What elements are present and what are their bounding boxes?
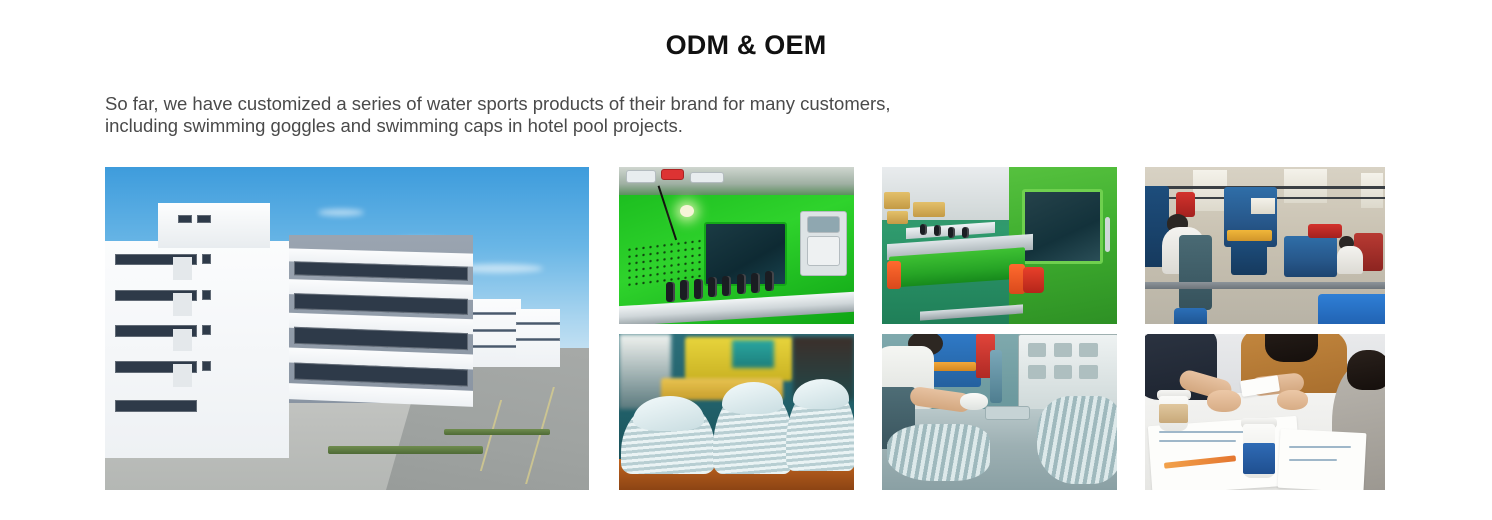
sun-shade xyxy=(173,364,192,387)
motor-housing xyxy=(1023,267,1044,292)
press-machine xyxy=(1284,236,1337,277)
panel-button xyxy=(1054,365,1073,379)
window-band xyxy=(516,338,560,341)
lamp-head-icon xyxy=(680,205,694,217)
photo-gallery xyxy=(105,167,1385,490)
photo-press-workers[interactable] xyxy=(1145,167,1385,324)
cap-top xyxy=(793,379,849,409)
hedge xyxy=(328,446,483,454)
cap-stack xyxy=(1037,396,1117,483)
photo-factory-exterior[interactable] xyxy=(105,167,589,490)
molded-part xyxy=(680,280,689,300)
photo-design-team-meeting[interactable] xyxy=(1145,334,1385,490)
person-hand xyxy=(1277,390,1308,410)
panel-button xyxy=(1028,343,1047,357)
molded-part xyxy=(737,274,746,294)
intro-line-2: including swimming goggles and swimming … xyxy=(105,115,1065,137)
window-band xyxy=(115,400,197,412)
panel-button xyxy=(1054,343,1073,357)
window xyxy=(202,290,212,300)
storage-bin xyxy=(1318,294,1385,324)
press-workers-scene xyxy=(1145,167,1385,324)
sun-shade xyxy=(173,329,192,352)
chart-line xyxy=(1289,446,1351,448)
cup-brand-band xyxy=(1243,443,1274,474)
sun-shade xyxy=(173,257,192,280)
molded-part xyxy=(948,227,955,238)
window xyxy=(1361,173,1383,208)
molding-machine-scene xyxy=(619,167,854,324)
intro-line-1: So far, we have customized a series of w… xyxy=(105,93,1065,115)
keypad xyxy=(807,236,840,266)
panel xyxy=(626,170,656,183)
control-screen xyxy=(807,216,840,234)
machine-window xyxy=(704,222,788,286)
cap-top xyxy=(722,382,783,413)
molded-part xyxy=(722,276,731,296)
machine-handle xyxy=(1105,217,1110,252)
worker-table-scene xyxy=(882,334,1117,490)
molded-part xyxy=(694,279,703,299)
worker-body xyxy=(1337,246,1363,274)
panel xyxy=(690,172,725,183)
design-team-scene xyxy=(1145,334,1385,490)
tray xyxy=(985,406,1029,420)
window xyxy=(202,254,212,264)
chart-line xyxy=(1289,459,1337,461)
photo-swim-caps-stack[interactable] xyxy=(619,334,854,490)
window xyxy=(1193,170,1227,211)
molded-part xyxy=(962,227,969,238)
photo-worker-trimming-caps[interactable] xyxy=(882,334,1117,490)
stacked-box xyxy=(913,202,946,218)
press-guard xyxy=(1227,230,1273,241)
conveyor-roller xyxy=(887,261,901,289)
person-hair xyxy=(1265,334,1318,362)
panel-button xyxy=(1079,365,1098,379)
molded-part xyxy=(920,224,927,235)
building-near-block xyxy=(105,241,289,457)
window xyxy=(202,361,212,371)
molded-part xyxy=(708,277,717,297)
page-title: ODM & OEM xyxy=(0,30,1492,61)
storage-bin xyxy=(1174,308,1208,324)
window-band xyxy=(516,322,560,325)
panel-button xyxy=(1079,343,1098,357)
panel-button xyxy=(1028,365,1047,379)
roof-tower xyxy=(158,203,269,248)
window xyxy=(197,215,212,223)
stacked-box xyxy=(884,192,910,209)
person-hand xyxy=(1207,390,1241,412)
chart-line xyxy=(1159,431,1255,433)
window xyxy=(202,325,212,335)
panel-red xyxy=(661,169,684,180)
press-cylinder xyxy=(1308,224,1342,238)
stacked-box xyxy=(887,211,908,224)
teal-panel xyxy=(732,340,774,368)
photo-injection-molding-machine[interactable] xyxy=(619,167,854,324)
molded-part xyxy=(751,273,760,293)
machine-window xyxy=(1022,189,1103,264)
cloud xyxy=(318,209,364,216)
photo-conveyor-production-line[interactable] xyxy=(882,167,1117,324)
intro-paragraph: So far, we have customized a series of w… xyxy=(105,93,1065,137)
worker-glove xyxy=(960,393,988,410)
factory-exterior-scene xyxy=(105,167,589,490)
swim-caps-stack-scene xyxy=(619,334,854,490)
workbench xyxy=(1145,282,1385,290)
molded-part xyxy=(765,271,774,291)
cap-pile xyxy=(887,424,990,480)
window xyxy=(178,215,193,223)
press-label xyxy=(1251,198,1275,214)
conveyor-line-scene xyxy=(882,167,1117,324)
cup-sleeve xyxy=(1159,404,1188,423)
person-hair xyxy=(1347,350,1385,391)
chart-line xyxy=(1159,440,1236,442)
sun-shade xyxy=(173,293,192,316)
press-base xyxy=(1231,241,1267,276)
worker-apron xyxy=(1179,235,1213,310)
molded-part xyxy=(934,225,941,236)
machine-post xyxy=(990,350,1002,403)
hedge xyxy=(444,429,550,435)
molded-part xyxy=(666,282,675,302)
